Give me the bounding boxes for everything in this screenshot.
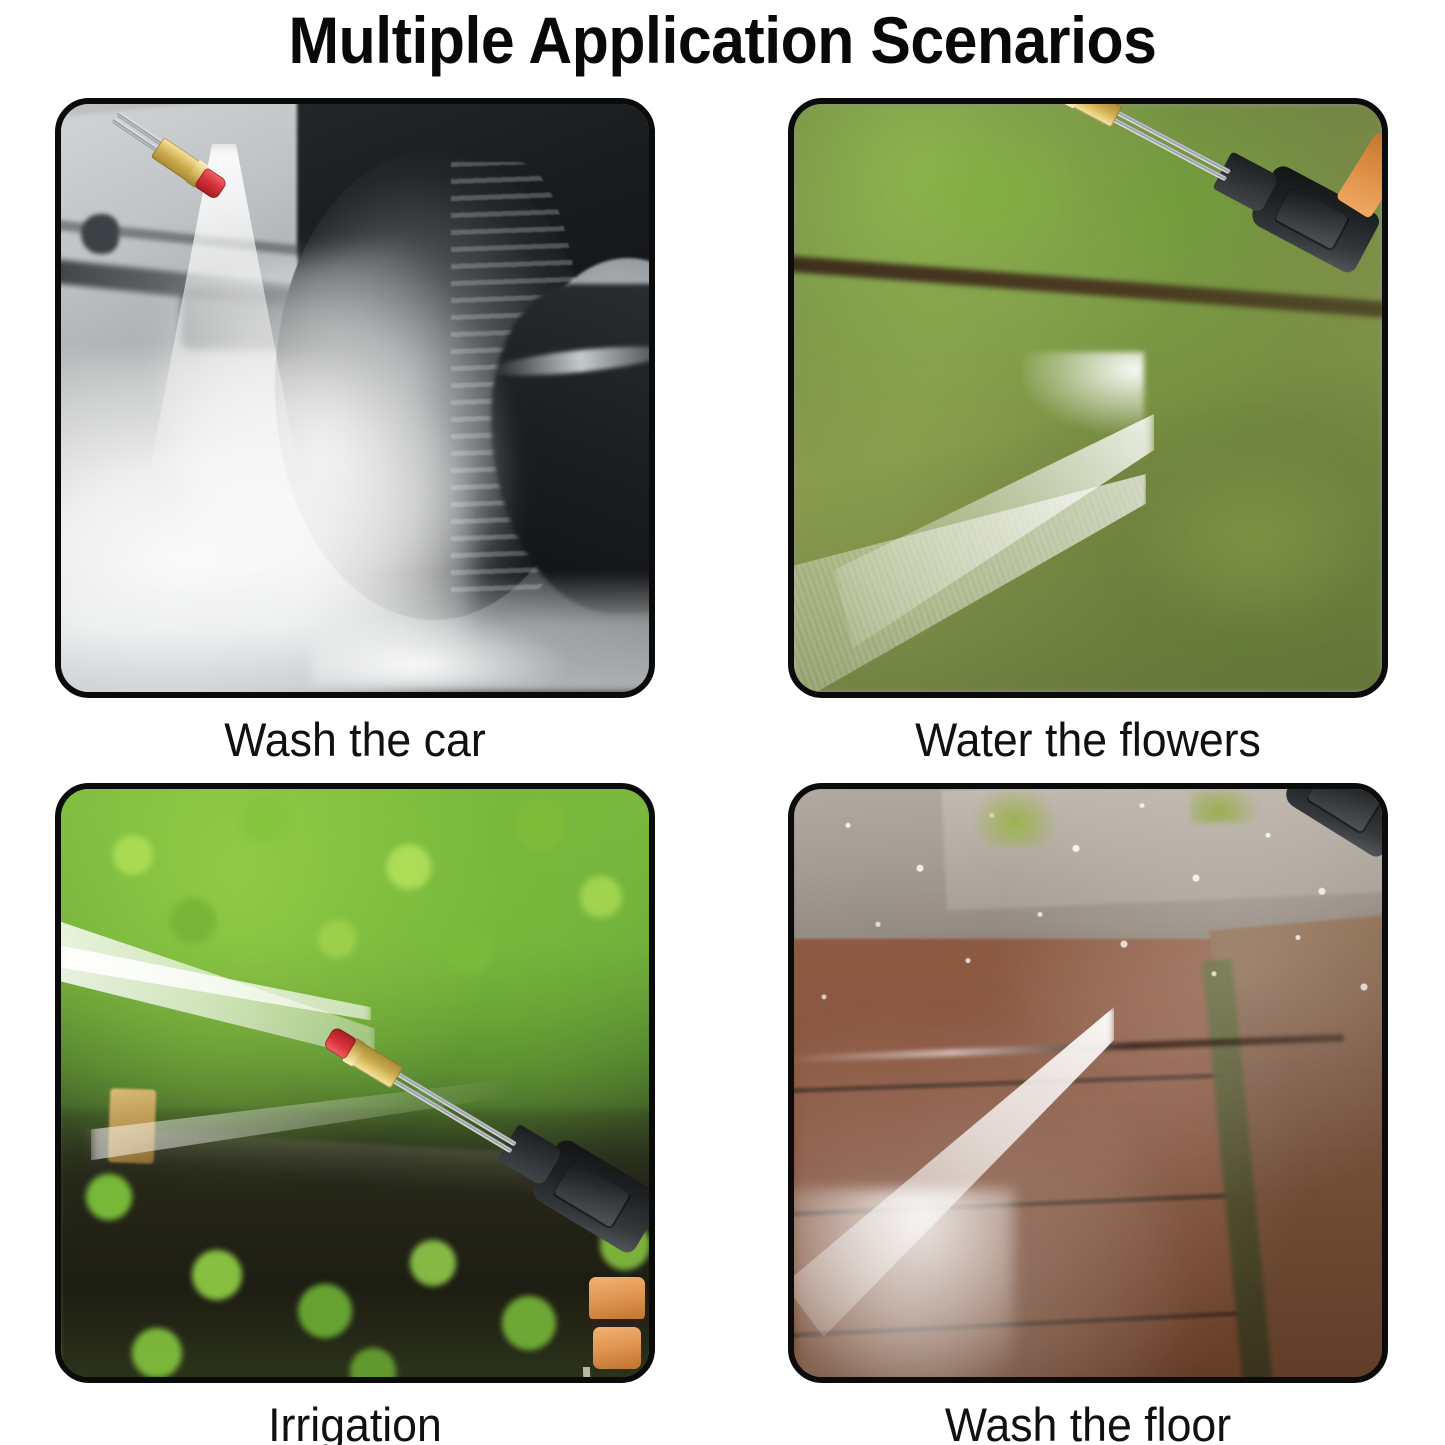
- car-mirror-shadow: [81, 214, 119, 254]
- fan-spray-tip-burst: [1024, 352, 1144, 432]
- hose-connector-lower: [593, 1327, 641, 1369]
- photo-inner-wash-the-floor: [794, 789, 1382, 1377]
- caption-wash-the-car: Wash the car: [70, 698, 640, 782]
- photo-inner-water-the-flowers: [794, 104, 1382, 692]
- page-title: Multiple Application Scenarios: [58, 2, 1387, 78]
- garden-hose: [583, 1367, 647, 1377]
- scenario-card-irrigation: Irrigation: [55, 783, 655, 1445]
- water-jet-spread: [794, 1189, 1014, 1377]
- scenario-card-wash-the-car: Wash the car: [55, 98, 655, 782]
- photo-water-the-flowers: [788, 98, 1388, 698]
- lawn-highlight-patch: [1124, 434, 1382, 634]
- photo-inner-wash-the-car: [61, 104, 649, 692]
- caption-irrigation: Irrigation: [70, 1383, 640, 1445]
- moss-patch: [972, 789, 1058, 847]
- ground-splash: [311, 616, 571, 686]
- moss-patch: [1190, 789, 1260, 823]
- infographic-page: Multiple Application Scenarios: [0, 0, 1445, 1445]
- photo-wash-the-car: [55, 98, 655, 698]
- water-droplet-speckle: [794, 789, 1382, 1119]
- photo-inner-irrigation: [61, 789, 649, 1377]
- scenario-card-water-the-flowers: Water the flowers: [788, 98, 1388, 782]
- caption-wash-the-floor: Wash the floor: [803, 1383, 1373, 1445]
- scenario-card-wash-the-floor: Wash the floor: [788, 783, 1388, 1445]
- lawn-highlight-patch: [904, 134, 1084, 254]
- caption-water-the-flowers: Water the flowers: [803, 698, 1373, 782]
- hose-connector-upper: [589, 1277, 645, 1321]
- photo-irrigation: [55, 783, 655, 1383]
- photo-wash-the-floor: [788, 783, 1388, 1383]
